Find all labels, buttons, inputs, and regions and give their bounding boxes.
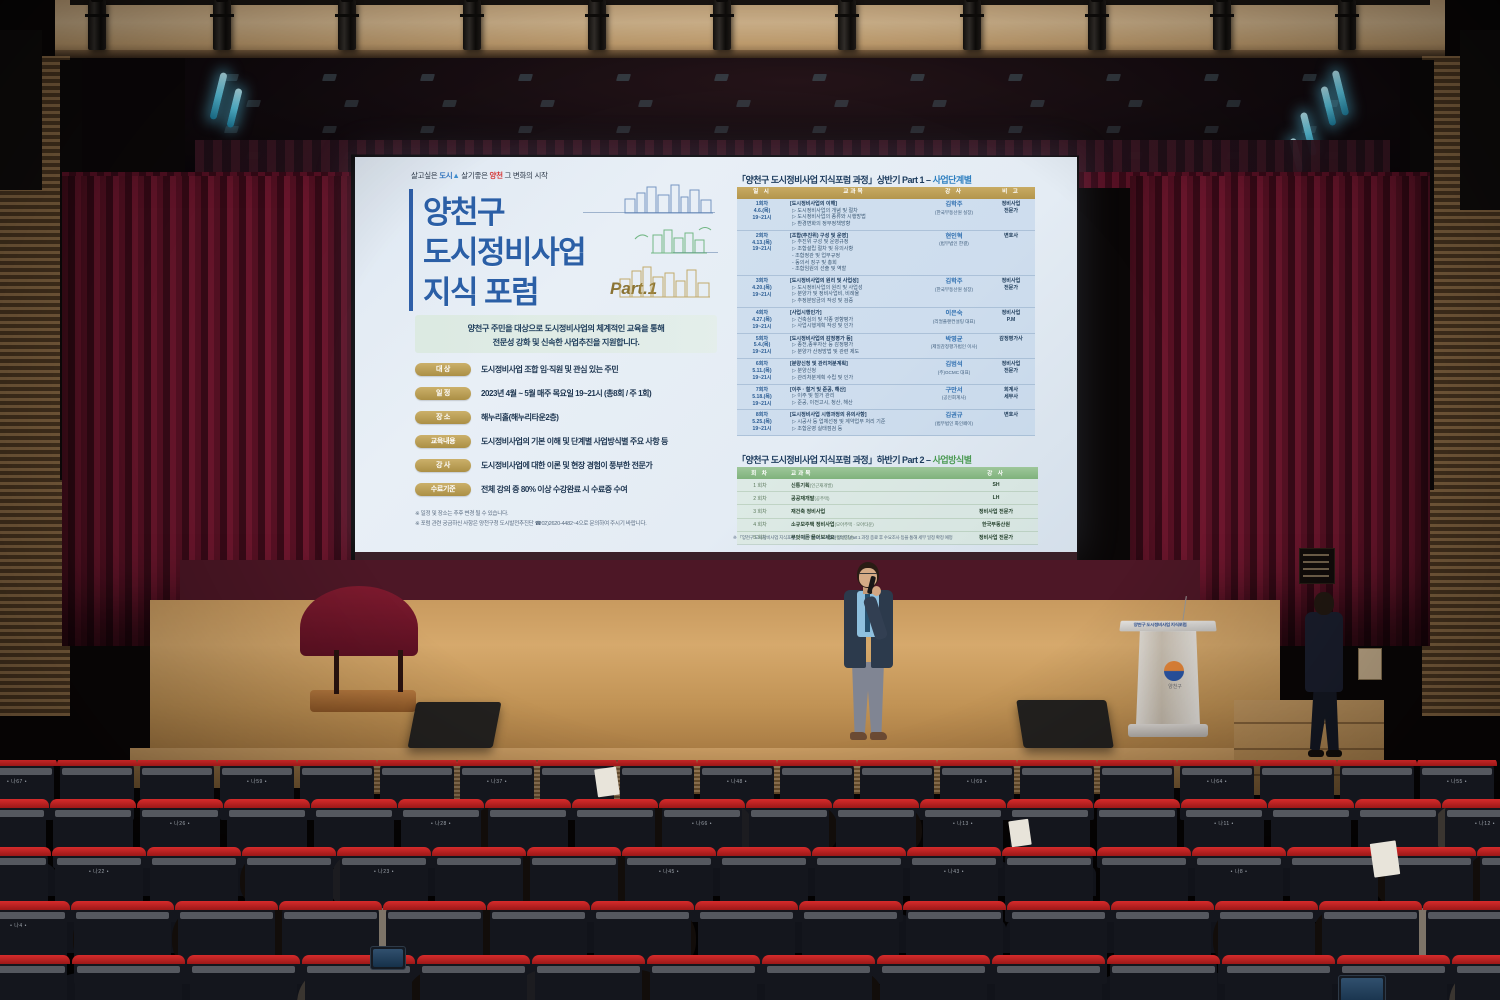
seat-number-tag: • 나22 • (55, 868, 143, 875)
overhead-fixture (1204, 74, 1219, 81)
table-row: 3회차4.20.(목)19~21시[도시정비사업의 원리 및 사업성]▷ 도시정… (737, 276, 1035, 308)
seat-band (912, 858, 996, 865)
overhead-fixture (1008, 74, 1023, 81)
seat-band (596, 912, 689, 919)
seat-band (302, 768, 372, 775)
seat-headrest (907, 847, 1001, 856)
cell-datetime: 2회차4.13.(목)19~21시 (737, 230, 787, 275)
cell-subject: 신통기획(인근재개발) (783, 479, 954, 492)
seat-band (0, 810, 44, 817)
seat-number-tag: • 나59 • (220, 778, 294, 785)
cell-lecturer: 정비사업 전문가 (954, 505, 1038, 518)
piano-leg (398, 650, 403, 692)
seat-headrest (52, 847, 146, 856)
seat-band (700, 912, 793, 919)
seat-headrest (0, 760, 57, 766)
seat-band (1428, 912, 1500, 919)
overhead-fixture (518, 74, 533, 81)
info-row-value: 전체 강의 중 80% 이상 수강완료 시 수료증 수여 (481, 483, 627, 496)
seat-headrest (0, 847, 51, 856)
seat-band (422, 966, 525, 973)
piano-platform (310, 690, 416, 712)
audience-seat (420, 960, 527, 1000)
overhead-fixture (420, 74, 435, 81)
tagline-mark-icon: ▲ (452, 171, 459, 180)
seat-number-tag: • 나12 • (1445, 820, 1500, 827)
audience-seat (650, 960, 757, 1000)
overhead-fixture (714, 126, 729, 133)
podium-top: 양천구 도시정비사업 지식포럼 (1119, 621, 1216, 632)
overhead-fixture (442, 100, 457, 107)
seat-number-tag: • 나8 • (1195, 868, 1283, 875)
cell-session-no: 4 회차 (737, 518, 783, 531)
seat-headrest (1017, 760, 1097, 766)
table-row: 1 회차신통기획(인근재개발)SH (737, 479, 1038, 492)
seat-headrest (432, 847, 526, 856)
seat-band (702, 768, 772, 775)
overhead-fixture (1008, 126, 1023, 133)
table1-title: 「양천구 도시정비사업 지식포럼 과정」상반기 Part 1 – 사업단계별 (737, 173, 971, 186)
city-skyline-illustration-2 (633, 227, 715, 255)
seat-headrest (1417, 760, 1497, 766)
table2-footnote: ※ 「양천구 도시정비사업 지식포럼」 하반기 Part 2 과정은 상반기 P… (733, 535, 952, 541)
seat-headrest (1097, 760, 1177, 766)
table1-header-cell: 비 고 (987, 187, 1035, 199)
seat-band (722, 858, 806, 865)
overhead-fixture (714, 74, 729, 81)
stage-light-fixture (1213, 0, 1231, 50)
slide-tagline: 살고싶은 도시▲ 살기좋은 양천 그 변화의 시작 (411, 170, 548, 181)
slide-title-line-3: 지식 포럼 (423, 267, 538, 312)
seat-band (1360, 810, 1436, 817)
seat-band (862, 768, 932, 775)
seat-headrest (1319, 901, 1422, 910)
audience-seating: • 나67 •• 나59 •• 나37 •• 나48 •• 나69 •• 나64… (0, 760, 1500, 1000)
seat-headrest (0, 955, 70, 964)
walking-staff-person (1300, 592, 1348, 764)
seat-headrest (1287, 847, 1381, 856)
speaker-array-left (0, 30, 42, 190)
seat-headrest (659, 799, 745, 808)
seat-band (1457, 966, 1500, 973)
overhead-fixture (812, 74, 827, 81)
stage-light-fixture (1338, 0, 1356, 50)
presenter-person (838, 562, 898, 750)
seat-number-tag: • 나13 • (923, 820, 1003, 827)
audience-handout (1370, 840, 1400, 877)
seat-band (382, 768, 452, 775)
seat-headrest (992, 955, 1105, 964)
seat-headrest (1423, 901, 1500, 910)
seat-band (492, 912, 585, 919)
tagline-pre: 살고싶은 (411, 171, 439, 180)
seat-band (0, 966, 65, 973)
seat-band (192, 966, 295, 973)
seat-headrest (175, 901, 278, 910)
seat-headrest (1007, 901, 1110, 910)
seat-number-tag: • 나23 • (340, 868, 428, 875)
seat-headrest (1337, 760, 1417, 766)
cell-session-no: 2 회차 (737, 492, 783, 505)
seat-headrest (697, 760, 777, 766)
cell-lecturer: 김학주(한국부동산원 실장) (921, 199, 987, 230)
seat-headrest (242, 847, 336, 856)
walker-shoe-right (1326, 750, 1342, 757)
seat-headrest (1222, 955, 1335, 964)
cell-note: 정비사업P.M (987, 307, 1035, 333)
tagline-post: 그 변화의 시작 (503, 171, 548, 180)
seat-headrest (383, 901, 486, 910)
cell-subject: 재건축 정비사업 (783, 505, 954, 518)
seat-headrest (1097, 847, 1191, 856)
seat-headrest (187, 955, 300, 964)
audience-seat (75, 960, 182, 1000)
cell-lecturer: 김권규(법무법인 화인페이) (921, 410, 987, 436)
seat-number-tag: • 나3 • (1480, 868, 1500, 875)
seat-band (767, 966, 870, 973)
overhead-fixture (420, 126, 435, 133)
cell-lecturer: SH (954, 479, 1038, 492)
seat-band (152, 858, 236, 865)
overhead-fixture (1302, 74, 1317, 81)
overhead-fixture (1106, 74, 1121, 81)
overhead-fixture (616, 74, 631, 81)
seat-band (0, 768, 52, 775)
seat-band (222, 768, 292, 775)
seat-band (1387, 858, 1471, 865)
cell-subject: [분양신청 및 관리처분계획]▷ 분양신청▷ 관리처분계획 수립 및 인가 (787, 359, 921, 385)
audience-seat (190, 960, 297, 1000)
table-row: 5회차5.4.(목)19~21시[도시정비사업의 감정평가 등]▷ 종전,종후자… (737, 333, 1035, 359)
overhead-fixture (1030, 100, 1045, 107)
cell-datetime: 5회차5.4.(목)19~21시 (737, 333, 787, 359)
seat-headrest (72, 955, 185, 964)
cell-subject: 소규모주택 정비사업(모아주택 · 모아타운) (783, 518, 954, 531)
seat-headrest (1007, 799, 1093, 808)
slide-description-line-2: 전문성 강화 및 신속한 사업추진을 지원합니다. (415, 336, 717, 348)
stage-light-fixture (213, 0, 231, 50)
cell-subject: [도시정비사업의 감정평가 등]▷ 종전,종후자산 등 감정평가▷ 분양가 산정… (787, 333, 921, 359)
cell-datetime: 7회차5.18.(목)19~21시 (737, 384, 787, 410)
cell-subject: [도시정비사업의 이해]▷ 도시정비사업의 개념 및 절차▷ 도시정비사업의 종… (787, 199, 921, 230)
seat-number-tag: • 나66 • (662, 820, 742, 827)
table1-header-cell: 일 시 (737, 187, 787, 199)
cell-datetime: 4회차4.27.(목)19~21시 (737, 307, 787, 333)
seat-headrest (1111, 901, 1214, 910)
seat-band (882, 966, 985, 973)
seat-headrest (1177, 760, 1257, 766)
seat-band (1262, 768, 1332, 775)
walker-head (1314, 592, 1334, 615)
city-skyline-illustration-3 (617, 265, 713, 299)
seat-headrest (297, 760, 377, 766)
seat-headrest (1268, 799, 1354, 808)
presenter-shoe-right (870, 732, 887, 740)
yangcheon-emblem-icon (1164, 661, 1184, 681)
cell-lecturer: 현인혁(법무법인 한결) (921, 230, 987, 275)
seat-band (0, 912, 65, 919)
seat-band (577, 810, 653, 817)
podium-banner-text: 양천구 도시정비사업 지식포럼 (1114, 623, 1206, 628)
seat-headrest (224, 799, 310, 808)
seat-number-tag: • 나64 • (1180, 778, 1254, 785)
podium-emblem-label: 양천구 (1158, 683, 1192, 690)
table1-title-pre: 「양천구 도시정비사업 지식포럼 과정」상반기 Part 1 – (737, 175, 933, 185)
seat-number-tag: • 나67 • (0, 778, 54, 785)
info-row-value: 2023년 4월 ~ 5월 매주 목요일 19~21시 (총8회 / 주 1회) (481, 387, 651, 400)
seat-number-tag: • 나11 • (1184, 820, 1264, 827)
seat-band (1116, 912, 1209, 919)
table2-header-row: 회 차교과목강 사 (737, 467, 1038, 479)
overhead-fixture (518, 126, 533, 133)
table-row: 2 회차공공재개발(공주택)LH (737, 492, 1038, 505)
seat-number-tag: • 나26 • (140, 820, 220, 827)
podium-base (1128, 724, 1208, 737)
seat-headrest (1337, 955, 1450, 964)
seat-headrest (762, 955, 875, 964)
table-row: 1회차4.6.(목)19~21시[도시정비사업의 이해]▷ 도시정비사업의 개념… (737, 199, 1035, 230)
info-row-value: 도시정비사업에 대한 이론 및 현장 경험이 풍부한 전문가 (481, 459, 652, 472)
seat-band (55, 810, 131, 817)
overhead-fixture (910, 74, 925, 81)
seat-headrest (937, 760, 1017, 766)
tagline-word2: 양천 (489, 171, 502, 180)
stage-light-fixture (463, 0, 481, 50)
seat-band (997, 966, 1100, 973)
overhead-fixture (1226, 100, 1241, 107)
seat-band (1186, 810, 1262, 817)
seat-number-tag: • 나48 • (700, 778, 774, 785)
seat-band (1197, 858, 1281, 865)
slide-footnote-1: ※ 일정 및 장소는 추후 변경 될 수 있습니다. (415, 509, 508, 517)
cell-session-no: 1 회차 (737, 479, 783, 492)
ceiling-soffit (55, 0, 1445, 56)
podium-body: 양천구 (1136, 631, 1200, 725)
seat-headrest (903, 901, 1006, 910)
blue-accent-light (209, 72, 227, 120)
seat-band (1342, 966, 1445, 973)
slide-title-line-1: 양천구 (423, 187, 504, 232)
cell-note: 감정평가사 (987, 333, 1035, 359)
seat-headrest (1002, 847, 1096, 856)
overhead-fixture (736, 100, 751, 107)
seat-band (782, 768, 852, 775)
info-row-label: 일 정 (415, 387, 471, 400)
seat-band (1022, 768, 1092, 775)
seat-band (1342, 768, 1412, 775)
audience-handout (1008, 819, 1031, 848)
seat-band (247, 858, 331, 865)
cell-lecturer: 박영균(제일감정평가법인 이사) (921, 333, 987, 359)
seat-number-tag: • 나55 • (1420, 778, 1494, 785)
table1-header-cell: 교과목 (787, 187, 921, 199)
seat-headrest (647, 955, 760, 964)
walker-shoe-left (1308, 750, 1324, 757)
seat-band (1112, 966, 1215, 973)
schedule-table-part2: 회 차교과목강 사 1 회차신통기획(인근재개발)SH2 회차공공재개발(공주택… (737, 467, 1038, 545)
seat-band (1182, 768, 1252, 775)
seat-band (652, 966, 755, 973)
seat-headrest (833, 799, 919, 808)
cell-subject: [도시정비사업의 원리 및 사업성]▷ 도시정비사업의 원리 및 사업성▷ 분양… (787, 276, 921, 308)
seat-headrest (311, 799, 397, 808)
seat-band (142, 768, 212, 775)
audience-seat (535, 960, 642, 1000)
wall-outlet-plate (1358, 648, 1382, 680)
seat-band (804, 912, 897, 919)
info-row-value: 해누리홀(해누리타운2층) (481, 411, 559, 424)
seat-band (76, 912, 169, 919)
cell-lecturer: 정비사업 전문가 (954, 531, 1038, 544)
seat-headrest (457, 760, 537, 766)
blue-accent-light (226, 88, 242, 129)
cell-subject: 공공재개발(공주택) (783, 492, 954, 505)
cell-lecturer: LH (954, 492, 1038, 505)
overhead-fixture (910, 126, 925, 133)
info-row-label: 강 사 (415, 459, 471, 472)
seat-band (62, 768, 132, 775)
seat-headrest (777, 760, 857, 766)
seat-number-tag: • 나45 • (625, 868, 713, 875)
stage-light-fixture (838, 0, 856, 50)
cell-lecturer: 김학주(한국부동산원 실장) (921, 276, 987, 308)
soffit-shadow (55, 50, 1445, 58)
seat-band (142, 810, 218, 817)
overhead-fixture (1204, 126, 1219, 133)
seat-headrest (812, 847, 906, 856)
audience-seat (1225, 960, 1332, 1000)
cell-note: 변호사 (987, 410, 1035, 436)
cell-note: 회계사세무사 (987, 384, 1035, 410)
cell-lecturer: 김범석(주)GCMC 대표) (921, 359, 987, 385)
seat-headrest (877, 955, 990, 964)
overhead-fixture (1128, 100, 1143, 107)
seat-headrest (485, 799, 571, 808)
seat-band (908, 912, 1001, 919)
seat-headrest (617, 760, 697, 766)
audience-seat (0, 960, 67, 1000)
seat-headrest (591, 901, 694, 910)
overhead-fixture (812, 126, 827, 133)
seat-band (462, 768, 532, 775)
seat-headrest (1257, 760, 1337, 766)
seat-number-tag: • 나37 • (460, 778, 534, 785)
cell-lecturer: 구만서(공인회계사) (921, 384, 987, 410)
overhead-fixture (540, 100, 555, 107)
seat-band (403, 810, 479, 817)
seat-band (1482, 858, 1500, 865)
audience-seat (1455, 960, 1500, 1000)
cell-lecturer: 한국부동산원 (954, 518, 1038, 531)
overhead-fixture (322, 126, 337, 133)
seat-band (537, 966, 640, 973)
table-row: 2회차4.13.(목)19~21시[조합(추진위) 구성 및 운영]▷ 추진위 … (737, 230, 1035, 275)
seat-headrest (537, 760, 617, 766)
stage-light-fixture (338, 0, 356, 50)
seat-band (77, 966, 180, 973)
cell-subject: [조합(추진위) 구성 및 운영]▷ 추진위 구성 및 운영규정▷ 조합설립 절… (787, 230, 921, 275)
cell-datetime: 3회차4.20.(목)19~21시 (737, 276, 787, 308)
auditorium-photo: 살고싶은 도시▲ 살기좋은 양천 그 변화의 시작 양천구 도시정비사업 지식 … (0, 0, 1500, 1000)
seat-band (751, 810, 827, 817)
stage-light-fixture (88, 0, 106, 50)
seat-band (838, 810, 914, 817)
speaker-array-right (1460, 30, 1500, 210)
tagline-mid: 살기좋은 (460, 171, 490, 180)
stage-light-fixture (588, 0, 606, 50)
info-row-label: 대 상 (415, 363, 471, 376)
cell-datetime: 8회차5.25.(목)19~21시 (737, 410, 787, 436)
seat-headrest (398, 799, 484, 808)
seat-headrest (71, 901, 174, 910)
walker-trousers (1310, 688, 1340, 754)
seat-band (1422, 768, 1492, 775)
table-row: 3 회차재건축 정비사업정비사업 전문가 (737, 505, 1038, 518)
seat-headrest (50, 799, 136, 808)
seat-band (1324, 912, 1417, 919)
tagline-word1: 도시 (439, 171, 452, 180)
seat-headrest (337, 847, 431, 856)
seat-headrest (147, 847, 241, 856)
audience-seat (1110, 960, 1217, 1000)
seat-headrest (487, 901, 590, 910)
table2-header-cell: 회 차 (737, 467, 783, 479)
seat-headrest (57, 760, 137, 766)
seat-band (1099, 810, 1175, 817)
seat-number-tag: • 나43 • (910, 868, 998, 875)
seat-band (627, 858, 711, 865)
presenter-hand (872, 586, 881, 596)
info-row-label: 교육내용 (415, 435, 471, 448)
seat-headrest (417, 955, 530, 964)
seat-band (925, 810, 1001, 817)
cell-subject: [사업시행인가]▷ 건축심의 및 각종 영향평가▷ 사업시행계획 작성 및 인가 (787, 307, 921, 333)
audience-seat (765, 960, 872, 1000)
seat-headrest (279, 901, 382, 910)
seat-band (1227, 966, 1330, 973)
slide-description-box: 양천구 주민을 대상으로 도시정비사업의 체계적인 교육을 통해 전문성 강화 … (415, 315, 717, 353)
overhead-fixture (246, 100, 261, 107)
seat-band (1102, 858, 1186, 865)
seat-band (1012, 810, 1088, 817)
overhead-fixture (322, 74, 337, 81)
seat-band (388, 912, 481, 919)
seat-band (57, 858, 141, 865)
cell-session-no: 3 회차 (737, 505, 783, 518)
presenter-trousers (852, 662, 884, 734)
seat-band (664, 810, 740, 817)
seat-band (342, 858, 426, 865)
overhead-fixture (932, 100, 947, 107)
schedule-table-part1: 일 시교과목강 사비 고 1회차4.6.(목)19~21시[도시정비사업의 이해… (737, 187, 1035, 436)
audience-handout (594, 767, 620, 798)
seat-band (942, 768, 1012, 775)
seat-headrest (799, 901, 902, 910)
title-accent-bar (409, 189, 413, 311)
stage-light-fixture (1088, 0, 1106, 50)
seat-headrest (377, 760, 457, 766)
table2-title-accent: 사업방식별 (933, 455, 972, 465)
info-row-value: 도시정비사업의 기본 이해 및 단계별 사업방식별 주요 사항 등 (481, 435, 668, 448)
overhead-fixture (344, 100, 359, 107)
table-row: 8회차5.25.(목)19~21시[도시정비사업 시행과정의 유의사항]▷ 시공… (737, 410, 1035, 436)
floor-monitor-speaker-right (1016, 700, 1114, 748)
seat-band (622, 768, 692, 775)
cell-note: 변호사 (987, 230, 1035, 275)
slide-footnote-2: ※ 포럼 관련 궁금하신 사항은 양천구청 도시발전추진단 ☎02)2620-4… (415, 519, 646, 527)
table1-header-row: 일 시교과목강 사비 고 (737, 187, 1035, 199)
seat-band (0, 858, 46, 865)
